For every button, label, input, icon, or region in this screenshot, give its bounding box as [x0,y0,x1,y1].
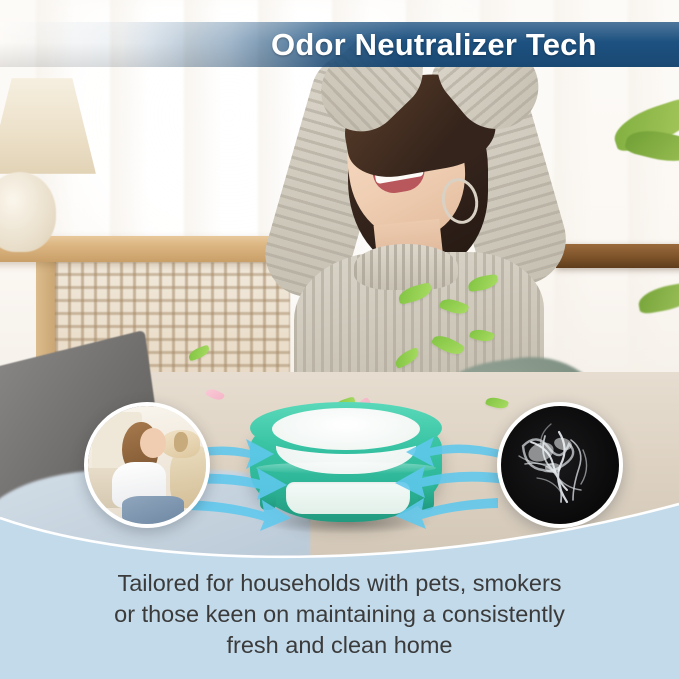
knit-sweater-collar [354,244,458,290]
header-title: Odor Neutralizer Tech [271,22,597,67]
product-infographic: Tailored for households with pets, smoke… [0,0,679,679]
caption-panel: Tailored for households with pets, smoke… [0,482,679,679]
inset-woman-face [140,428,166,458]
product-highlight-band [256,462,436,474]
product-inner-cavity [272,408,420,450]
caption-paragraph: Tailored for households with pets, smoke… [0,568,679,661]
wood-rail-right [556,244,679,268]
